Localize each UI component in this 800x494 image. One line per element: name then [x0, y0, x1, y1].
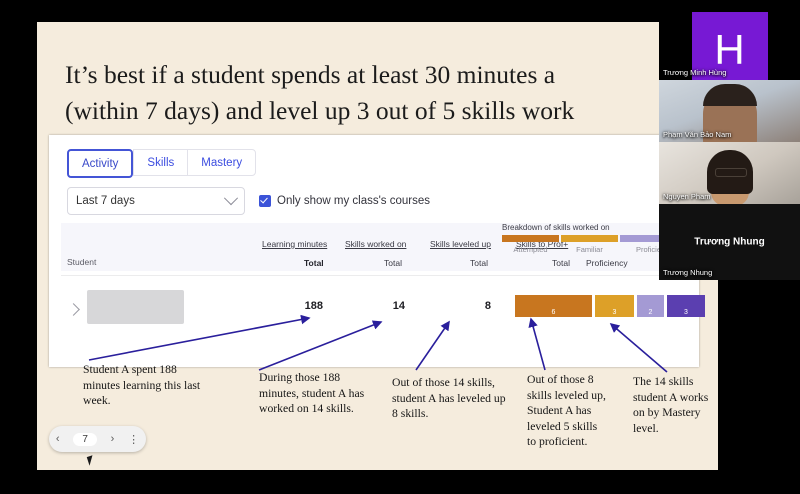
student-name-redacted [87, 290, 184, 324]
column-header-skills-worked-on[interactable]: Skills worked on [345, 239, 406, 249]
legend-swatch-familiar [561, 235, 618, 242]
participant-name-2: Phạm Văn Bảo Nam [663, 130, 731, 139]
cell-skills-worked-on: 14 [369, 300, 405, 312]
screen: It’s best if a student spends at least 3… [0, 0, 800, 494]
checkbox-icon[interactable] [259, 195, 271, 207]
participant-tile-4[interactable]: Trương Nhung Trương Nhung [659, 204, 800, 280]
page-number[interactable]: 7 [73, 433, 97, 446]
bar-segment-attempted: 6 [515, 295, 592, 317]
cell-learning-minutes: 188 [287, 300, 323, 312]
webcam-hair-2 [703, 84, 757, 106]
title-line-2: (within 7 days) and level up 3 out of 5 … [65, 93, 685, 129]
annotation-skills-to-proficient: Out of those 8 skills leveled up, Studen… [527, 372, 609, 450]
participant-name-3: Nguyen Pham [663, 192, 711, 201]
more-options-button[interactable]: ⋮ [128, 433, 139, 446]
subheader-total-worked: Total [384, 258, 402, 268]
annotation-mastery-breakdown: The 14 skills student A works on by Mast… [633, 374, 709, 436]
only-my-class-label: Only show my class's courses [277, 195, 430, 207]
title-line-1: It’s best if a student spends at least 3… [65, 57, 685, 93]
participant-name-1: Trương Minh Hùng [663, 68, 726, 77]
glasses-icon [715, 168, 747, 177]
slide-navigation: ‹ 7 › ⋮ [49, 426, 146, 452]
cell-skills-leveled-up: 8 [455, 300, 491, 312]
breakdown-legend-bars [502, 235, 677, 242]
date-range-select[interactable]: Last 7 days [67, 187, 245, 215]
video-participants-panel: H Trương Minh Hùng Phạm Văn Bảo Nam Nguy… [659, 12, 800, 280]
bar-segment-proficient: 2 [637, 295, 664, 317]
subheader-total-prof: Total [552, 258, 570, 268]
page-title: It’s best if a student spends at least 3… [65, 57, 685, 129]
participant-tile-1[interactable]: H Trương Minh Hùng [659, 12, 800, 80]
activity-dashboard: Activity Skills Mastery Last 7 days Only… [49, 135, 699, 367]
legend-label-attempted: Attempted [502, 245, 559, 254]
participant-tile-2[interactable]: Phạm Văn Bảo Nam [659, 80, 800, 142]
tab-mastery[interactable]: Mastery [187, 149, 256, 176]
annotation-learning-minutes: Student A spent 188 minutes learning thi… [83, 362, 213, 409]
subheader-proficiency: Proficiency [586, 258, 628, 268]
annotation-skills-worked-on: During those 188 minutes, student A has … [259, 370, 374, 417]
only-my-class-checkbox-row[interactable]: Only show my class's courses [259, 195, 430, 207]
bar-segment-familiar: 3 [595, 295, 634, 317]
breakdown-legend-labels: Attempted Familiar Proficie [502, 245, 677, 254]
slide-canvas: It’s best if a student spends at least 3… [37, 22, 718, 470]
column-header-skills-leveled-up[interactable]: Skills leveled up [430, 239, 491, 249]
proficiency-stacked-bar: 6 3 2 3 [515, 295, 705, 317]
legend-swatch-attempted [502, 235, 559, 242]
date-range-value: Last 7 days [76, 195, 135, 207]
tab-skills[interactable]: Skills [133, 149, 187, 176]
tab-activity[interactable]: Activity [67, 149, 133, 178]
tab-bar: Activity Skills Mastery [67, 149, 256, 178]
participant-tile-3[interactable]: Nguyen Pham [659, 142, 800, 204]
subheader-total-minutes: Total [304, 258, 324, 268]
prev-slide-button[interactable]: ‹ [56, 433, 60, 445]
legend-label-familiar: Familiar [561, 245, 618, 254]
column-header-learning-minutes[interactable]: Learning minutes [262, 239, 327, 249]
column-header-student: Student [67, 257, 96, 267]
breakdown-title: Breakdown of skills worked on [502, 223, 610, 232]
next-slide-button[interactable]: › [111, 433, 115, 445]
filter-row: Last 7 days Only show my class's courses [67, 187, 430, 215]
bar-segment-mastered: 3 [667, 295, 705, 317]
subheader-total-leveled: Total [470, 258, 488, 268]
chevron-down-icon [224, 191, 238, 205]
participant-display-name-4: Trương Nhung [659, 237, 800, 248]
table-divider [61, 275, 687, 276]
expand-row-chevron-icon[interactable] [67, 303, 80, 316]
annotation-skills-leveled-up: Out of those 14 skills, student A has le… [392, 375, 510, 422]
participant-name-4: Trương Nhung [663, 268, 712, 277]
